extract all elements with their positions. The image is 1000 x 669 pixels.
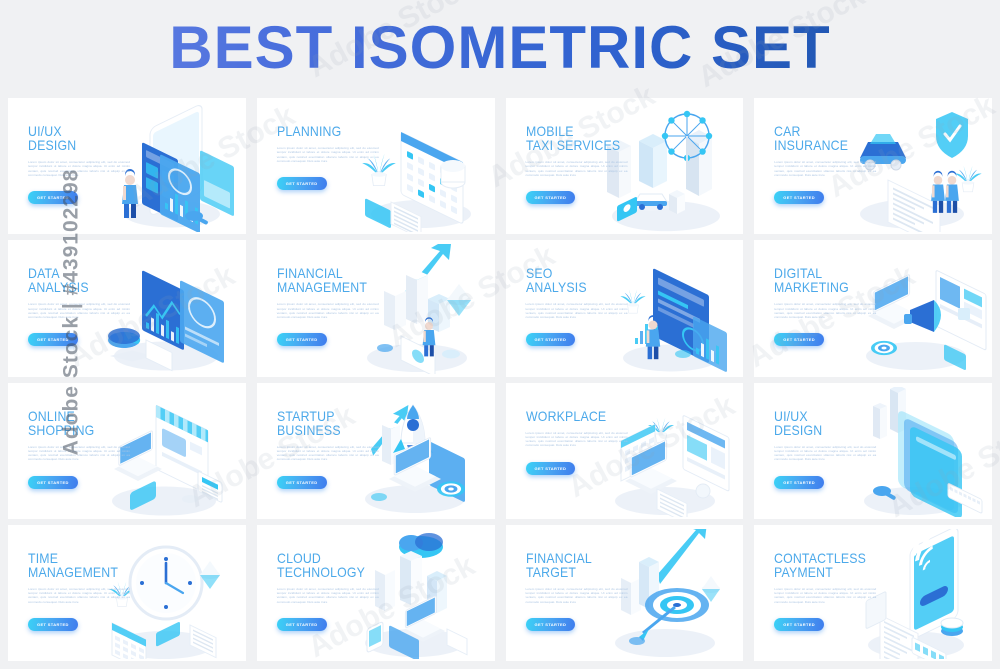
card-text-block: ONLINE SHOPPING Lorem ipsum dolor sit am… xyxy=(28,409,136,489)
card-body-text: Lorem ipsum dolor sit amet, consectetur … xyxy=(774,587,876,604)
card-body-text: Lorem ipsum dolor sit amet, consectetur … xyxy=(774,160,876,177)
get-started-button[interactable]: GET STARTED xyxy=(28,618,78,631)
card-body-text: Lorem ipsum dolor sit amet, consectetur … xyxy=(277,302,379,319)
get-started-button[interactable]: GET STARTED xyxy=(526,191,576,204)
card-body-text: Lorem ipsum dolor sit amet, consectetur … xyxy=(28,587,130,604)
card-body-text: Lorem ipsum dolor sit amet, consectetur … xyxy=(28,445,130,462)
card-body-text: Lorem ipsum dolor sit amet, consectetur … xyxy=(774,445,876,462)
card-title: FINANCIAL MANAGEMENT xyxy=(277,266,372,294)
card-text-block: UI/UX DESIGN Lorem ipsum dolor sit amet,… xyxy=(774,409,882,489)
card-ui-ux-design-2[interactable]: UI/UX DESIGN Lorem ipsum dolor sit amet,… xyxy=(754,383,992,519)
card-title: CONTACTLESS PAYMENT xyxy=(774,551,869,579)
card-financial-target[interactable]: FINANCIAL TARGET Lorem ipsum dolor sit a… xyxy=(506,525,744,661)
card-time-management[interactable]: TIME MANAGEMENT Lorem ipsum dolor sit am… xyxy=(8,525,246,661)
card-title: MOBILE TAXI SERVICES xyxy=(526,124,621,152)
card-title: UI/UX DESIGN xyxy=(28,124,123,152)
card-title: DIGITAL MARKETING xyxy=(774,266,869,294)
get-started-button[interactable]: GET STARTED xyxy=(774,191,824,204)
card-title: DATA ANALYSIS xyxy=(28,266,123,294)
card-body-text: Lorem ipsum dolor sit amet, consectetur … xyxy=(526,587,628,604)
card-title: WORKPLACE xyxy=(526,409,621,423)
get-started-button[interactable]: GET STARTED xyxy=(277,618,327,631)
card-body-text: Lorem ipsum dolor sit amet, consectetur … xyxy=(526,431,628,448)
card-planning[interactable]: PLANNING Lorem ipsum dolor sit amet, con… xyxy=(257,98,495,234)
card-text-block: UI/UX DESIGN Lorem ipsum dolor sit amet,… xyxy=(28,124,136,204)
get-started-button[interactable]: GET STARTED xyxy=(28,476,78,489)
card-title: CLOUD TECHNOLOGY xyxy=(277,551,372,579)
card-digital-marketing[interactable]: DIGITAL MARKETING Lorem ipsum dolor sit … xyxy=(754,240,992,376)
card-body-text: Lorem ipsum dolor sit amet, consectetur … xyxy=(526,160,628,177)
card-text-block: CLOUD TECHNOLOGY Lorem ipsum dolor sit a… xyxy=(277,551,385,631)
get-started-button[interactable]: GET STARTED xyxy=(774,618,824,631)
card-contactless-payment[interactable]: CONTACTLESS PAYMENT Lorem ipsum dolor si… xyxy=(754,525,992,661)
card-text-block: PLANNING Lorem ipsum dolor sit amet, con… xyxy=(277,124,385,190)
card-title: FINANCIAL TARGET xyxy=(526,551,621,579)
card-grid: UI/UX DESIGN Lorem ipsum dolor sit amet,… xyxy=(8,98,992,661)
card-text-block: STARTUP BUSINESS Lorem ipsum dolor sit a… xyxy=(277,409,385,489)
page-title: BEST ISOMETRIC SET xyxy=(0,0,1000,78)
card-financial-management[interactable]: FINANCIAL MANAGEMENT Lorem ipsum dolor s… xyxy=(257,240,495,376)
card-body-text: Lorem ipsum dolor sit amet, consectetur … xyxy=(28,302,130,319)
get-started-button[interactable]: GET STARTED xyxy=(28,191,78,204)
card-text-block: CONTACTLESS PAYMENT Lorem ipsum dolor si… xyxy=(774,551,882,631)
card-title: CAR INSURANCE xyxy=(774,124,869,152)
get-started-button[interactable]: GET STARTED xyxy=(28,333,78,346)
card-text-block: DIGITAL MARKETING Lorem ipsum dolor sit … xyxy=(774,266,882,346)
get-started-button[interactable]: GET STARTED xyxy=(277,177,327,190)
card-text-block: DATA ANALYSIS Lorem ipsum dolor sit amet… xyxy=(28,266,136,346)
card-title: UI/UX DESIGN xyxy=(774,409,869,437)
card-seo-analysis[interactable]: SEO ANALYSIS Lorem ipsum dolor sit amet,… xyxy=(506,240,744,376)
card-text-block: FINANCIAL TARGET Lorem ipsum dolor sit a… xyxy=(526,551,634,631)
card-body-text: Lorem ipsum dolor sit amet, consectetur … xyxy=(277,146,379,163)
card-body-text: Lorem ipsum dolor sit amet, consectetur … xyxy=(277,445,379,462)
get-started-button[interactable]: GET STARTED xyxy=(526,462,576,475)
card-body-text: Lorem ipsum dolor sit amet, consectetur … xyxy=(774,302,876,319)
card-online-shopping[interactable]: ONLINE SHOPPING Lorem ipsum dolor sit am… xyxy=(8,383,246,519)
card-text-block: CAR INSURANCE Lorem ipsum dolor sit amet… xyxy=(774,124,882,204)
card-title: SEO ANALYSIS xyxy=(526,266,621,294)
get-started-button[interactable]: GET STARTED xyxy=(277,333,327,346)
card-title: PLANNING xyxy=(277,124,372,138)
get-started-button[interactable]: GET STARTED xyxy=(774,476,824,489)
card-mobile-taxi[interactable]: MOBILE TAXI SERVICES Lorem ipsum dolor s… xyxy=(506,98,744,234)
card-workplace[interactable]: WORKPLACE Lorem ipsum dolor sit amet, co… xyxy=(506,383,744,519)
card-ui-ux-design[interactable]: UI/UX DESIGN Lorem ipsum dolor sit amet,… xyxy=(8,98,246,234)
card-cloud-technology[interactable]: CLOUD TECHNOLOGY Lorem ipsum dolor sit a… xyxy=(257,525,495,661)
get-started-button[interactable]: GET STARTED xyxy=(526,618,576,631)
get-started-button[interactable]: GET STARTED xyxy=(277,476,327,489)
card-text-block: SEO ANALYSIS Lorem ipsum dolor sit amet,… xyxy=(526,266,634,346)
card-body-text: Lorem ipsum dolor sit amet, consectetur … xyxy=(277,587,379,604)
card-text-block: TIME MANAGEMENT Lorem ipsum dolor sit am… xyxy=(28,551,136,631)
get-started-button[interactable]: GET STARTED xyxy=(526,333,576,346)
card-body-text: Lorem ipsum dolor sit amet, consectetur … xyxy=(526,302,628,319)
card-body-text: Lorem ipsum dolor sit amet, consectetur … xyxy=(28,160,130,177)
card-data-analysis[interactable]: DATA ANALYSIS Lorem ipsum dolor sit amet… xyxy=(8,240,246,376)
card-title: STARTUP BUSINESS xyxy=(277,409,372,437)
card-text-block: FINANCIAL MANAGEMENT Lorem ipsum dolor s… xyxy=(277,266,385,346)
card-text-block: WORKPLACE Lorem ipsum dolor sit amet, co… xyxy=(526,409,634,475)
card-title: ONLINE SHOPPING xyxy=(28,409,123,437)
card-title: TIME MANAGEMENT xyxy=(28,551,123,579)
card-car-insurance[interactable]: CAR INSURANCE Lorem ipsum dolor sit amet… xyxy=(754,98,992,234)
get-started-button[interactable]: GET STARTED xyxy=(774,333,824,346)
card-text-block: MOBILE TAXI SERVICES Lorem ipsum dolor s… xyxy=(526,124,634,204)
card-startup-business[interactable]: STARTUP BUSINESS Lorem ipsum dolor sit a… xyxy=(257,383,495,519)
